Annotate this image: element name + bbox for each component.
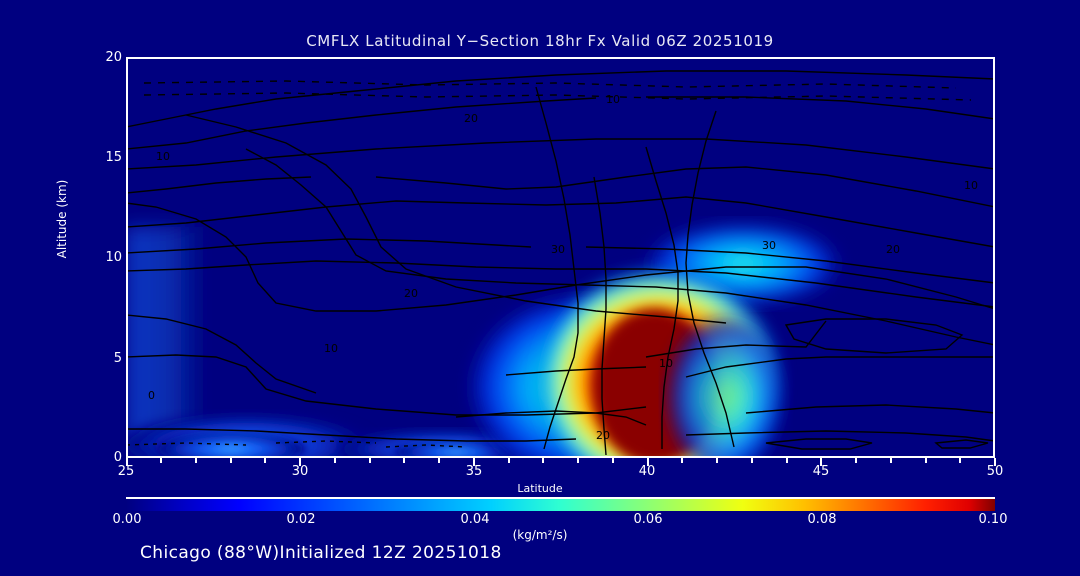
y-tick-label-10: 10 — [88, 250, 122, 265]
x-tick-label-40: 40 — [617, 464, 677, 479]
colorbar-tick-0.00: 0.00 — [92, 512, 162, 527]
colorbar-tick-0.04: 0.04 — [440, 512, 510, 527]
colorbar-tick-0.02: 0.02 — [266, 512, 336, 527]
contour-label: 10 — [964, 179, 978, 192]
contour-label: 0 — [148, 389, 155, 402]
y-tick-label-5: 5 — [88, 351, 122, 366]
contour-label: 10 — [606, 93, 620, 106]
x-axis-title: Latitude — [0, 482, 1080, 495]
x-tick-label-30: 30 — [270, 464, 330, 479]
colorbar[interactable] — [126, 497, 995, 511]
contour-label: 10 — [156, 150, 170, 163]
y-axis-title: Altitude (km) — [55, 149, 69, 289]
x-tick-label-45: 45 — [791, 464, 851, 479]
colorbar-tick-0.08: 0.08 — [787, 512, 857, 527]
contour-label: 20 — [886, 243, 900, 256]
contour-label: 10 — [324, 342, 338, 355]
contour-label: 20 — [464, 112, 478, 125]
contour-label: 20 — [596, 429, 610, 442]
chart-canvas: CMFLX Latitudinal Y−Section 18hr Fx Vali… — [0, 0, 1080, 576]
y-tick-label-15: 15 — [88, 150, 122, 165]
x-tick-label-35: 35 — [444, 464, 504, 479]
x-axis-ticks — [126, 458, 997, 466]
contour-label: 10 — [659, 357, 673, 370]
isotach-contours — [126, 57, 995, 458]
x-tick-label-25: 25 — [96, 464, 156, 479]
colorbar-tick-0.06: 0.06 — [613, 512, 683, 527]
colorbar-tick-0.10: 0.10 — [958, 512, 1028, 527]
colorbar-units: (kg/m²/s) — [0, 528, 1080, 542]
chart-title: CMFLX Latitudinal Y−Section 18hr Fx Vali… — [0, 32, 1080, 50]
y-tick-label-0: 0 — [88, 450, 122, 465]
chart-caption: Chicago (88°W)Initialized 12Z 20251018 — [140, 543, 502, 563]
x-tick-label-50: 50 — [965, 464, 1025, 479]
contour-label: 20 — [404, 287, 418, 300]
y-tick-label-20: 20 — [88, 50, 122, 65]
plot-area: 0 10 20 20 10 30 20 10 30 20 10 10 — [126, 57, 995, 458]
contour-label: 30 — [762, 239, 776, 252]
contour-label: 30 — [551, 243, 565, 256]
